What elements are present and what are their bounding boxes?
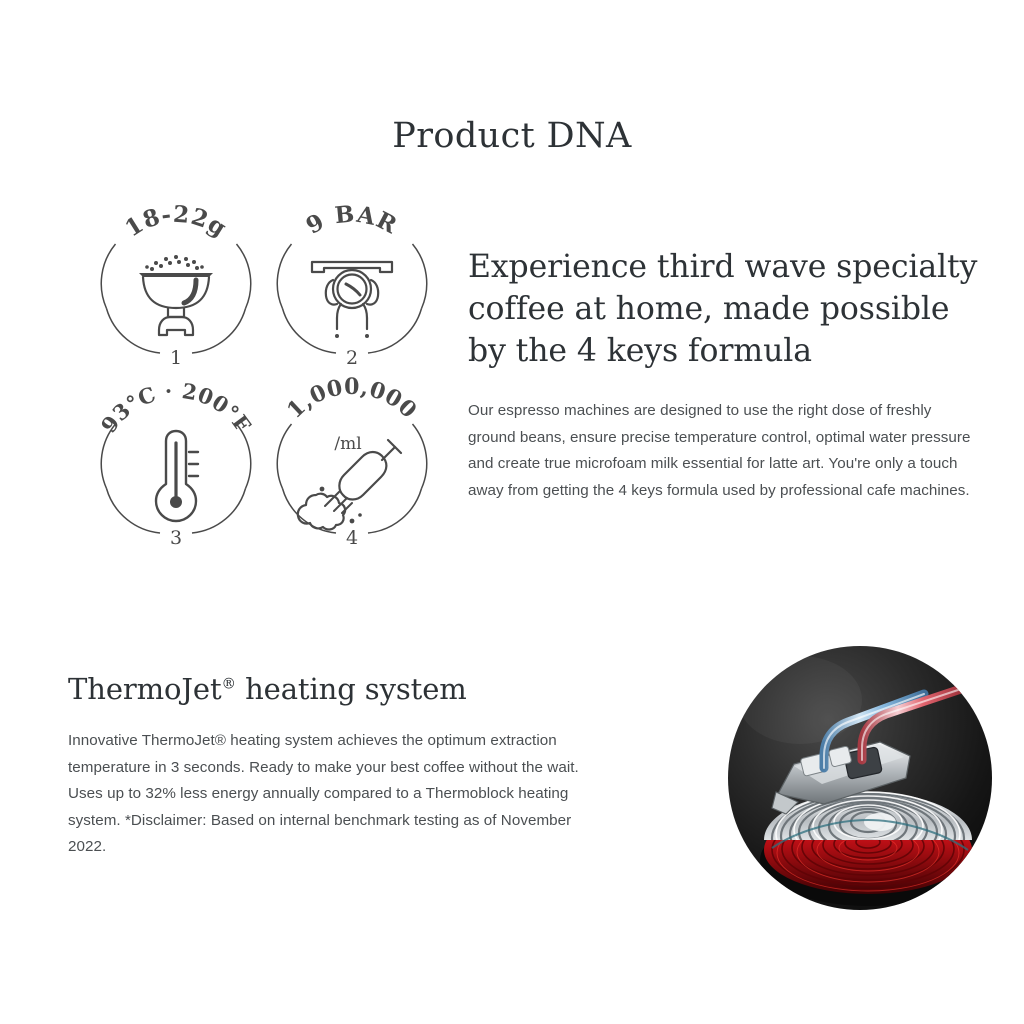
- thermojet-heading-main: ThermoJet: [68, 672, 222, 706]
- badge-number-2: 2: [346, 347, 358, 369]
- badge-number-1: 1: [170, 347, 182, 369]
- thermojet-heading: ThermoJet® heating system: [68, 670, 628, 708]
- espresso-drip-dots: [335, 334, 369, 338]
- registered-trademark-icon: ®: [222, 676, 236, 692]
- thermojet-heading-rest: heating system: [236, 672, 467, 706]
- badge-arc-label-4: 1,000,000: [282, 374, 422, 424]
- thermojet-heating-element-photo: [728, 644, 992, 912]
- dna-badge-microfoam: 1,000,000 /ml 4: [264, 376, 440, 556]
- heading-line-2: coffee at home, made possible: [468, 291, 949, 327]
- portafilter-gauge-icon: [312, 262, 392, 329]
- product-dna-section: 18-22g: [0, 196, 1024, 556]
- dna-badge-pressure: 9 BAR: [264, 196, 440, 376]
- coffee-grounds-dots: [145, 255, 204, 271]
- sphere-highlight: [738, 656, 862, 744]
- dna-badge-temperature: 93°C · 200°F 3: [88, 376, 264, 556]
- badge-ring-1: [101, 244, 250, 353]
- heading-line-3: by the 4 keys formula: [468, 333, 812, 369]
- dna-badge-dose: 18-22g: [88, 196, 264, 376]
- product-dna-copy: Experience third wave specialty coffee a…: [468, 246, 983, 504]
- page-title: Product DNA: [0, 116, 1024, 156]
- thermojet-copy: ThermoJet® heating system Innovative The…: [68, 670, 628, 861]
- thermojet-section: ThermoJet® heating system Innovative The…: [0, 628, 1024, 928]
- badge-number-4: 4: [346, 527, 358, 549]
- badge-sub-label-4: /ml: [334, 434, 361, 454]
- product-dna-heading: Experience third wave specialty coffee a…: [468, 246, 983, 372]
- badge-arc-label-3: 93°C · 200°F: [96, 378, 257, 437]
- badge-arc-label-1: 18-22g: [120, 201, 231, 243]
- dna-badge-grid: 18-22g: [88, 196, 438, 556]
- thermojet-body: Innovative ThermoJet® heating system ach…: [68, 728, 613, 861]
- portafilter-basket-icon: [139, 273, 213, 335]
- badge-ring-2: [277, 244, 426, 353]
- product-dna-body: Our espresso machines are designed to us…: [468, 398, 976, 504]
- thermometer-icon: [156, 431, 198, 521]
- heading-line-1: Experience third wave specialty: [468, 249, 977, 285]
- badge-number-3: 3: [170, 527, 182, 549]
- badge-arc-label-2: 9 BAR: [302, 200, 402, 239]
